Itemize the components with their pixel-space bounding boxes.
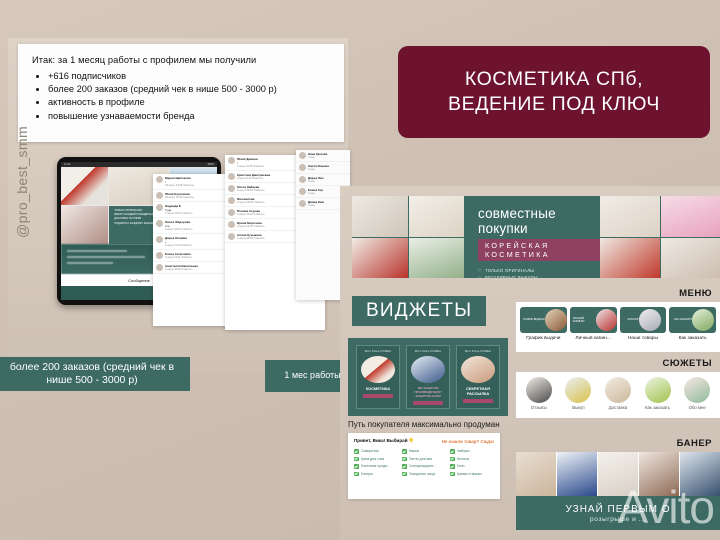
widget-label: КОСМЕТИКА bbox=[366, 386, 390, 391]
story-cover bbox=[605, 377, 631, 403]
product-photo bbox=[352, 238, 408, 279]
chat-option-label: Кремы и маски bbox=[457, 472, 482, 476]
product-photo bbox=[661, 238, 720, 279]
widget-brand: Mint Store KOREA bbox=[415, 349, 442, 353]
chat-option[interactable]: Кремы и маски bbox=[450, 472, 494, 477]
checkbox-icon bbox=[402, 457, 407, 462]
chat-option-label: Очищение лица bbox=[409, 472, 436, 476]
story-highlight-reviews[interactable]: Отзывы bbox=[520, 377, 558, 411]
banner-text-strip: УЗНАЙ ПЕРВЫМ О розыгрыше и ... bbox=[516, 496, 720, 530]
cover-image-grid-right bbox=[600, 196, 720, 278]
menu-item-schedule[interactable]: ГРАФИК ВЫДАЧИ График выдачи bbox=[520, 307, 567, 341]
avatar bbox=[156, 236, 163, 243]
menu-caption: Личный кабин... bbox=[570, 336, 617, 341]
chat-help-link[interactable]: Не нашли товар? Сюда! bbox=[442, 439, 494, 444]
banner-showcase: УЗНАЙ ПЕРВЫМ О розыгрыше и ... bbox=[516, 452, 720, 530]
chat-option-label: Наборы bbox=[457, 449, 470, 453]
avatar bbox=[299, 152, 306, 159]
comment-meta[interactable]: 7 нед bbox=[308, 156, 347, 159]
avatar bbox=[228, 157, 235, 164]
buyer-path-title: Путь покупателя максимально продуман bbox=[348, 420, 500, 429]
chat-option-label: Солнцезащитн... bbox=[409, 464, 437, 468]
screenshot-canvas: Итак: за 1 месяц работы с профилем мы по… bbox=[0, 0, 720, 540]
story-highlight-about[interactable]: Обо мне bbox=[678, 377, 716, 411]
chat-header: Привет, Вика! Выбирай 👇 Не нашли товар? … bbox=[354, 438, 494, 444]
avatar bbox=[299, 200, 306, 207]
avatar bbox=[228, 221, 235, 228]
avatar bbox=[228, 209, 235, 216]
cover-bullet: РЕГУЛЯРНЫЕ ВЫКУПЫ bbox=[478, 274, 600, 278]
results-item: +616 подписчиков bbox=[48, 70, 344, 83]
cover-subheading: КОРЕЙСКАЯ КОСМЕТИКА bbox=[478, 239, 600, 261]
results-title: Итак: за 1 месяц работы с профилем мы по… bbox=[18, 44, 344, 65]
chat-option-label: Волосы bbox=[457, 457, 470, 461]
story-caption: Доставка bbox=[599, 405, 637, 411]
results-item: повышение узнаваемости бренда bbox=[48, 110, 344, 123]
checkbox-icon bbox=[402, 449, 407, 454]
product-photo bbox=[409, 238, 465, 279]
profile-handle-watermark: @pro_best_smm bbox=[14, 126, 30, 238]
avatar bbox=[156, 252, 163, 259]
banner-image-strip bbox=[516, 452, 720, 496]
menu-item-account[interactable]: ЛИЧНЫЙ КАБИНЕТ Личный кабин... bbox=[570, 307, 617, 341]
cover-bullet: ТОЛЬКО ОРИГИНАЛЫ bbox=[478, 267, 600, 274]
widgets-section-label: ВИДЖЕТЫ bbox=[352, 296, 486, 326]
story-caption: Отзывы bbox=[520, 405, 558, 411]
product-photo bbox=[598, 452, 638, 496]
story-highlight-buyout[interactable]: Выкуп bbox=[560, 377, 598, 411]
cover-banner: совместные покупки КОРЕЙСКАЯ КОСМЕТИКА Т… bbox=[352, 196, 720, 278]
product-photo bbox=[516, 452, 556, 496]
avatar bbox=[228, 173, 235, 180]
checkbox-icon bbox=[402, 472, 407, 477]
widget-brand: Mint Store KOREA bbox=[465, 349, 492, 353]
story-cover bbox=[526, 377, 552, 403]
product-photo bbox=[680, 452, 720, 496]
checkbox-icon bbox=[354, 472, 359, 477]
chat-option[interactable]: Очищение лица bbox=[402, 472, 446, 477]
avatar bbox=[299, 164, 306, 171]
avatar bbox=[156, 264, 163, 271]
story-caption: Как заказать bbox=[639, 405, 677, 411]
menu-section-label: МЕНЮ bbox=[679, 288, 712, 299]
chat-option[interactable]: Маски bbox=[402, 449, 446, 454]
menu-thumb-text: КАК ЗАКАЗАТЬ bbox=[671, 318, 692, 321]
comment-row[interactable]: Света Ильина 6 нед bbox=[296, 162, 350, 174]
menu-thumb-text: ГРАФИК ВЫДАЧИ bbox=[520, 318, 545, 321]
menu-thumb-text: КАТАЛОГ bbox=[625, 318, 639, 321]
banner-subheading: розыгрыше и ... bbox=[590, 516, 646, 523]
widget-card[interactable]: Mint Store KOREA КОСМЕТИКА bbox=[356, 345, 400, 409]
story-caption: Выкуп bbox=[560, 405, 598, 411]
banner-section-label: БАНЕР bbox=[677, 438, 712, 449]
results-item: более 200 заказов (средний чек в нише 50… bbox=[48, 83, 344, 96]
menu-thumb-text: ЛИЧНЫЙ КАБИНЕТ bbox=[570, 317, 596, 324]
avatar bbox=[299, 188, 306, 195]
widget-image bbox=[461, 356, 495, 383]
chat-option-label: Патчи для век bbox=[409, 457, 433, 461]
results-list: +616 подписчиков более 200 заказов (сред… bbox=[18, 70, 344, 123]
avatar bbox=[156, 220, 163, 227]
menu-thumb-image bbox=[692, 309, 714, 331]
checkbox-icon bbox=[450, 449, 455, 454]
header-banner-line1: КОСМЕТИКА СПб, bbox=[465, 67, 643, 92]
menu-thumb-image bbox=[596, 309, 617, 331]
checkbox-icon bbox=[450, 464, 455, 469]
widget-label: СЕКРЕТНАЯ РАССЫЛКА bbox=[457, 386, 499, 396]
story-caption: Обо мне bbox=[678, 405, 716, 411]
menu-thumb: ЛИЧНЫЙ КАБИНЕТ bbox=[570, 307, 617, 333]
chat-option[interactable]: Точечные средс... bbox=[354, 464, 398, 469]
product-photo bbox=[661, 196, 720, 237]
widget-label: МЫ ЗАЩИТИМ ПРОИЗВОДИТЕЛЯ? ЗАЩИТИТЕ НАМИ bbox=[407, 386, 449, 398]
chat-option[interactable]: Волосы bbox=[450, 457, 494, 462]
widget-image bbox=[361, 356, 395, 383]
comment-meta[interactable]: 5 нед bbox=[308, 180, 347, 183]
chat-option-label: Тонеры bbox=[361, 472, 373, 476]
header-banner: КОСМЕТИКА СПб, ВЕДЕНИЕ ПОД КЛЮЧ bbox=[398, 46, 710, 138]
widget-card[interactable]: Mint Store KOREA МЫ ЗАЩИТИМ ПРОИЗВОДИТЕЛ… bbox=[406, 345, 450, 409]
widget-cta-bar[interactable] bbox=[363, 394, 393, 398]
widget-brand: Mint Store KOREA bbox=[365, 349, 392, 353]
status-battery: 100% bbox=[207, 163, 214, 166]
chat-greeting: Привет, Вика! Выбирай 👇 bbox=[354, 438, 415, 444]
stories-showcase: Отзывы Выкуп Доставка Как заказать Обо м… bbox=[516, 372, 720, 418]
callout-orders: более 200 заказов (средний чек в нише 50… bbox=[0, 357, 190, 391]
chat-option-grid: Сыворотки Маски Наборы Крем для глаз Пат… bbox=[354, 449, 494, 476]
avatar bbox=[299, 176, 306, 183]
checkbox-icon bbox=[354, 464, 359, 469]
avatar bbox=[156, 204, 163, 211]
avatar bbox=[228, 233, 235, 240]
checkbox-icon bbox=[450, 457, 455, 462]
chat-option-label: Маски bbox=[409, 449, 419, 453]
chat-option[interactable]: Сыворотки bbox=[354, 449, 398, 454]
widgets-showcase: Mint Store KOREA КОСМЕТИКА Mint Store KO… bbox=[348, 338, 508, 416]
menu-thumb: ГРАФИК ВЫДАЧИ bbox=[520, 307, 567, 333]
product-photo bbox=[557, 452, 597, 496]
banner-heading: УЗНАЙ ПЕРВЫМ О bbox=[566, 504, 671, 515]
widget-card[interactable]: Mint Store KOREA СЕКРЕТНАЯ РАССЫЛКА bbox=[456, 345, 500, 409]
menu-caption: График выдачи bbox=[520, 336, 567, 341]
chat-menu-card: Привет, Вика! Выбирай 👇 Не нашли товар? … bbox=[348, 433, 500, 499]
avatar bbox=[228, 197, 235, 204]
menu-showcase: ГРАФИК ВЫДАЧИ График выдачи ЛИЧНЫЙ КАБИН… bbox=[516, 302, 720, 352]
story-highlight-delivery[interactable]: Доставка bbox=[599, 377, 637, 411]
cover-text-block: совместные покупки КОРЕЙСКАЯ КОСМЕТИКА Т… bbox=[464, 196, 600, 278]
product-photo bbox=[639, 452, 679, 496]
checkbox-icon bbox=[450, 472, 455, 477]
status-time: 11:24 bbox=[64, 163, 70, 166]
widget-image bbox=[411, 356, 445, 383]
menu-thumb-image bbox=[639, 309, 661, 331]
menu-thumb: КАТАЛОГ bbox=[620, 307, 667, 333]
product-photo bbox=[352, 196, 408, 237]
comment-row[interactable]: Дарья Лис 5 нед bbox=[296, 174, 350, 186]
product-photo bbox=[409, 196, 465, 237]
widget-cta-bar[interactable] bbox=[413, 401, 443, 405]
menu-caption: Как заказать bbox=[669, 336, 716, 341]
chat-option[interactable]: Крем для глаз bbox=[354, 457, 398, 462]
chat-option[interactable]: Тонеры bbox=[354, 472, 398, 477]
chat-option-label: Крем для глаз bbox=[361, 457, 385, 461]
story-cover bbox=[684, 377, 710, 403]
product-photo bbox=[600, 238, 660, 279]
checkbox-icon bbox=[354, 457, 359, 462]
chat-option[interactable]: Наборы bbox=[450, 449, 494, 454]
product-photo bbox=[600, 196, 660, 237]
cover-bullet-list: ТОЛЬКО ОРИГИНАЛЫ РЕГУЛЯРНЫЕ ВЫКУПЫ ДОСТА… bbox=[478, 267, 600, 278]
chat-option-label: Тело bbox=[457, 464, 465, 468]
cover-heading: совместные покупки bbox=[478, 206, 600, 236]
chat-option-label: Точечные средс... bbox=[361, 464, 391, 468]
grid-cell[interactable] bbox=[61, 206, 108, 244]
chat-option[interactable]: Тело bbox=[450, 464, 494, 469]
cover-image-grid-left bbox=[352, 196, 464, 278]
menu-thumb-image bbox=[545, 309, 567, 331]
checkbox-icon bbox=[354, 449, 359, 454]
story-highlight-how-to-order[interactable]: Как заказать bbox=[639, 377, 677, 411]
header-banner-line2: ВЕДЕНИЕ ПОД КЛЮЧ bbox=[448, 92, 660, 117]
comment-row[interactable]: Ника Орлова 7 нед bbox=[296, 150, 350, 162]
avatar bbox=[156, 176, 163, 183]
comment-meta[interactable]: 6 нед bbox=[308, 168, 347, 171]
menu-thumb: КАК ЗАКАЗАТЬ bbox=[669, 307, 716, 333]
grid-cell[interactable] bbox=[61, 167, 108, 205]
story-cover bbox=[645, 377, 671, 403]
avatar bbox=[228, 185, 235, 192]
avatar bbox=[156, 192, 163, 199]
menu-caption: Наши товары bbox=[620, 336, 667, 341]
story-cover bbox=[565, 377, 591, 403]
checkbox-icon bbox=[402, 464, 407, 469]
results-item: активность в профиле bbox=[48, 96, 344, 109]
chat-option[interactable]: Солнцезащитн... bbox=[402, 464, 446, 469]
chat-option[interactable]: Патчи для век bbox=[402, 457, 446, 462]
menu-item-products[interactable]: КАТАЛОГ Наши товары bbox=[620, 307, 667, 341]
chat-option-label: Сыворотки bbox=[361, 449, 379, 453]
widget-cta-bar[interactable] bbox=[463, 399, 493, 403]
stories-section-label: СЮЖЕТЫ bbox=[663, 358, 712, 369]
menu-item-how-to-order[interactable]: КАК ЗАКАЗАТЬ Как заказать bbox=[669, 307, 716, 341]
results-card: Итак: за 1 месяц работы с профилем мы по… bbox=[18, 44, 344, 142]
